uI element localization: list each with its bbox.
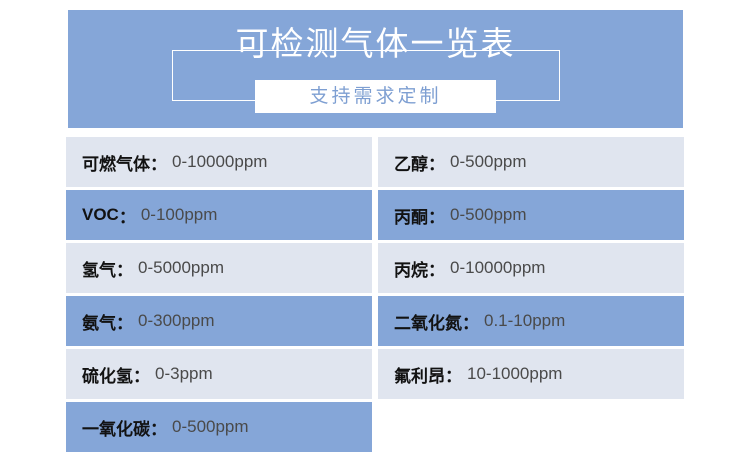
gas-range: 10-1000ppm bbox=[467, 364, 562, 384]
table-row: 氨气：0-300ppm bbox=[66, 296, 372, 346]
gas-separator: ： bbox=[428, 150, 445, 175]
gas-range: 0-10000ppm bbox=[172, 152, 267, 172]
table-row: 可燃气体：0-10000ppm bbox=[66, 137, 372, 187]
gas-name: 氟利昂 bbox=[394, 362, 445, 387]
gas-range: 0-5000ppm bbox=[138, 258, 224, 278]
gas-name: VOC bbox=[82, 205, 119, 225]
gas-separator: ： bbox=[116, 256, 133, 281]
gas-range: 0-10000ppm bbox=[450, 258, 545, 278]
gas-table: 可燃气体：0-10000ppm VOC：0-100ppm 氢气：0-5000pp… bbox=[66, 137, 684, 457]
page-title: 可检测气体一览表 bbox=[68, 23, 683, 65]
table-row: 丙酮：0-500ppm bbox=[378, 190, 684, 240]
gas-range: 0.1-10ppm bbox=[484, 311, 565, 331]
gas-table-right-column: 乙醇：0-500ppm 丙酮：0-500ppm 丙烷：0-10000ppm 二氧… bbox=[378, 137, 684, 402]
gas-separator: ： bbox=[119, 203, 136, 228]
table-row: 氟利昂：10-1000ppm bbox=[378, 349, 684, 399]
gas-name: 一氧化碳 bbox=[82, 415, 150, 440]
table-row: 一氧化碳：0-500ppm bbox=[66, 402, 372, 452]
gas-separator: ： bbox=[428, 256, 445, 281]
gas-separator: ： bbox=[428, 203, 445, 228]
gas-range: 0-500ppm bbox=[172, 417, 249, 437]
gas-name: 可燃气体 bbox=[82, 150, 150, 175]
table-row: 乙醇：0-500ppm bbox=[378, 137, 684, 187]
table-row: VOC：0-100ppm bbox=[66, 190, 372, 240]
gas-name: 乙醇 bbox=[394, 150, 428, 175]
gas-range: 0-3ppm bbox=[155, 364, 213, 384]
table-row: 氢气：0-5000ppm bbox=[66, 243, 372, 293]
gas-range: 0-500ppm bbox=[450, 152, 527, 172]
gas-name: 丙酮 bbox=[394, 203, 428, 228]
gas-separator: ： bbox=[150, 150, 167, 175]
gas-range: 0-300ppm bbox=[138, 311, 215, 331]
table-row: 丙烷：0-10000ppm bbox=[378, 243, 684, 293]
gas-range: 0-100ppm bbox=[141, 205, 218, 225]
gas-separator: ： bbox=[462, 309, 479, 334]
gas-name: 丙烷 bbox=[394, 256, 428, 281]
gas-name: 二氧化氮 bbox=[394, 309, 462, 334]
gas-separator: ： bbox=[150, 415, 167, 440]
gas-name: 氨气 bbox=[82, 309, 116, 334]
gas-name: 硫化氢 bbox=[82, 362, 133, 387]
gas-table-left-column: 可燃气体：0-10000ppm VOC：0-100ppm 氢气：0-5000pp… bbox=[66, 137, 372, 455]
gas-separator: ： bbox=[133, 362, 150, 387]
gas-separator: ： bbox=[445, 362, 462, 387]
gas-range: 0-500ppm bbox=[450, 205, 527, 225]
subtitle-text: 支持需求定制 bbox=[309, 80, 441, 113]
table-row: 硫化氢：0-3ppm bbox=[66, 349, 372, 399]
header-banner: 可检测气体一览表 支持需求定制 bbox=[68, 10, 683, 128]
table-row: 二氧化氮：0.1-10ppm bbox=[378, 296, 684, 346]
gas-name: 氢气 bbox=[82, 256, 116, 281]
subtitle-badge: 支持需求定制 bbox=[255, 80, 496, 113]
gas-detection-list-page: 可检测气体一览表 支持需求定制 可燃气体：0-10000ppm VOC：0-10… bbox=[0, 0, 750, 474]
gas-separator: ： bbox=[116, 309, 133, 334]
